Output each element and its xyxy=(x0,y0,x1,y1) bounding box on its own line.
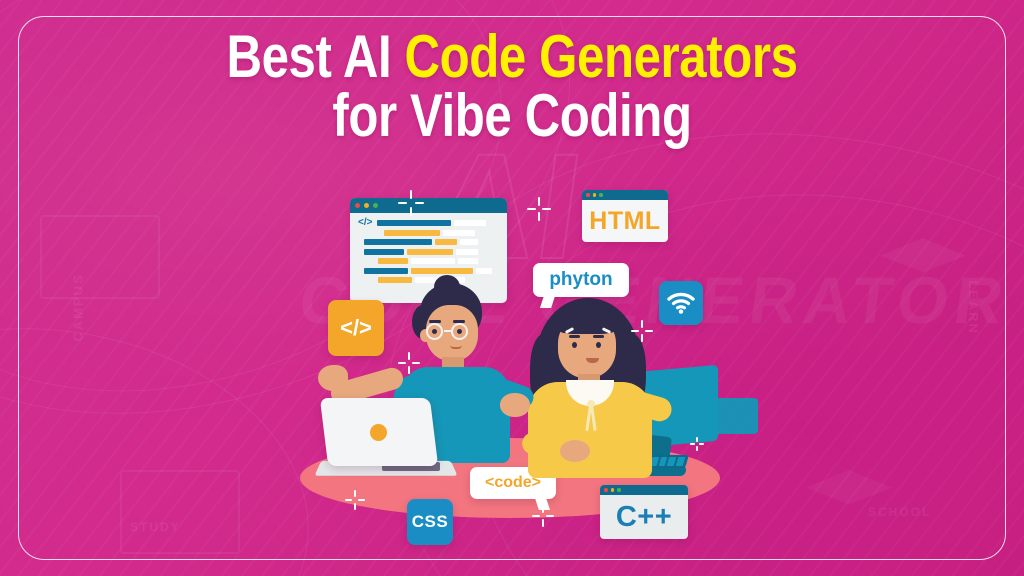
eyebrow xyxy=(593,335,604,338)
cpp-card-titlebar xyxy=(600,485,688,495)
code-line xyxy=(358,249,501,255)
window-dot-red-icon xyxy=(355,203,360,208)
sparkle-icon xyxy=(532,505,554,527)
sparkle-icon xyxy=(527,197,551,221)
sparkle-icon xyxy=(398,352,420,374)
page-title: Best AI Code Generators for Vibe Coding xyxy=(0,28,1024,146)
person-right xyxy=(528,290,658,470)
code-line: </> xyxy=(358,220,501,226)
eye xyxy=(596,342,601,348)
glasses-icon xyxy=(424,323,480,340)
banner-root: CAMPUS LEARN SCHOOL STUDY AI CODE GENERA… xyxy=(0,0,1024,576)
code-window-body: </> xyxy=(350,213,507,292)
eyebrow xyxy=(569,335,580,338)
cpp-badge-card: C++ xyxy=(600,485,688,539)
python-bubble-label: phyton xyxy=(549,269,612,291)
code-window-titlebar xyxy=(350,198,507,213)
code-tag-tile-label: </> xyxy=(340,315,372,341)
title-line-2: for Vibe Coding xyxy=(92,87,932,146)
title-text-plain: Best AI xyxy=(226,23,404,90)
cpp-badge-label: C++ xyxy=(600,495,688,539)
code-line xyxy=(358,258,501,264)
eye xyxy=(572,342,577,348)
laptop xyxy=(318,398,454,480)
window-dot-green-icon xyxy=(599,193,603,197)
window-dot-green-icon xyxy=(373,203,378,208)
hand-left xyxy=(318,365,348,391)
sparkle-icon xyxy=(690,437,704,451)
window-dot-red-icon xyxy=(604,488,608,492)
code-tag-tile: </> xyxy=(328,300,384,356)
window-dot-yellow-icon xyxy=(593,193,597,197)
window-dot-yellow-icon xyxy=(364,203,369,208)
hair-tuft xyxy=(434,275,460,299)
wifi-glyph-icon xyxy=(667,292,695,314)
shirt-tie xyxy=(586,400,596,430)
css-badge-label: CSS xyxy=(412,512,448,532)
title-line-1: Best AI Code Generators xyxy=(92,28,932,87)
css-badge-tile: CSS xyxy=(407,499,453,545)
window-dot-red-icon xyxy=(586,193,590,197)
code-tag-icon: </> xyxy=(358,218,372,228)
window-dot-yellow-icon xyxy=(611,488,615,492)
sparkle-icon xyxy=(345,490,365,510)
html-card-titlebar xyxy=(582,190,668,200)
window-dot-green-icon xyxy=(617,488,621,492)
code-line xyxy=(358,268,501,274)
code-line xyxy=(358,239,501,245)
sparkle-icon xyxy=(631,320,653,342)
hand-right xyxy=(500,393,530,417)
html-badge-label: HTML xyxy=(582,200,668,242)
wifi-icon xyxy=(659,281,703,325)
laptop-logo-icon xyxy=(370,424,387,441)
html-badge-card: HTML xyxy=(582,190,668,242)
title-text-highlight: Code Generators xyxy=(405,23,798,90)
code-line xyxy=(358,230,501,236)
sparkle-icon xyxy=(398,190,424,216)
hand-left xyxy=(560,440,590,462)
